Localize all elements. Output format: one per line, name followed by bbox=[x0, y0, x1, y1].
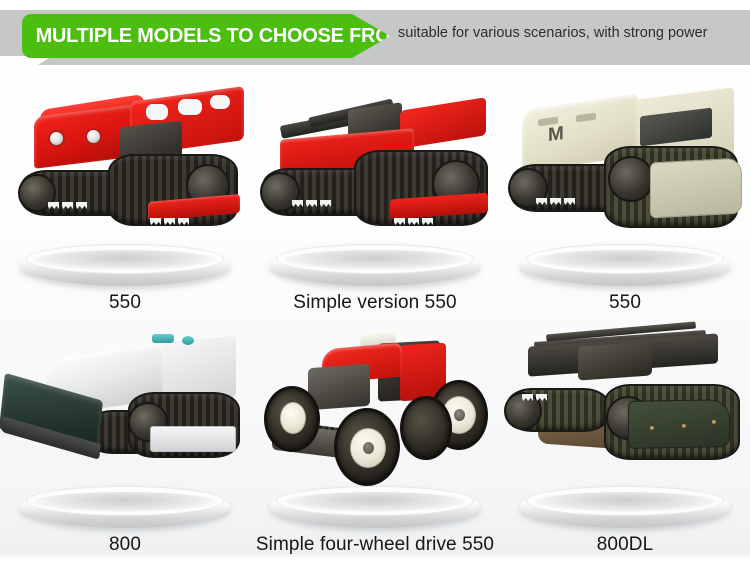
p1-blade bbox=[150, 218, 161, 225]
p1-blade bbox=[76, 202, 87, 209]
p6-bolt bbox=[712, 420, 716, 424]
p1-headlamp-right bbox=[85, 128, 102, 145]
p6-bolt bbox=[682, 424, 686, 428]
turntable-contact-shadow bbox=[284, 250, 466, 270]
turntable-5 bbox=[270, 486, 480, 532]
turntable-contact-shadow bbox=[34, 492, 216, 512]
product-caption-6: 800DL bbox=[500, 534, 750, 558]
product-card-3[interactable]: M bbox=[500, 72, 750, 292]
p2-blade-set-left bbox=[292, 200, 331, 207]
product-caption-3: 550 bbox=[500, 292, 750, 314]
product-caption-5: Simple four-wheel drive 550 bbox=[250, 534, 500, 558]
product-caption-1: 550 bbox=[0, 292, 250, 314]
p3-sprocket-right bbox=[608, 156, 654, 202]
p5-rim-rear-left bbox=[280, 402, 306, 434]
p2-blade bbox=[394, 218, 405, 225]
turntable-contact-shadow bbox=[34, 250, 216, 270]
p2-blade-set-right bbox=[394, 218, 433, 225]
p3-brand-logo: M bbox=[548, 123, 564, 147]
p2-blade bbox=[292, 200, 303, 207]
p4-knob-teal-2 bbox=[182, 336, 194, 345]
p6-blade bbox=[522, 394, 533, 401]
product-card-5[interactable] bbox=[250, 314, 500, 534]
product-caption-4: 800 bbox=[0, 534, 250, 558]
product-card-6[interactable] bbox=[500, 314, 750, 534]
turntable-3 bbox=[520, 244, 730, 290]
turntable-2 bbox=[270, 244, 480, 290]
product-grid: M 550 Simple version 550 bbox=[0, 72, 750, 558]
p5-hub-front-left bbox=[363, 442, 374, 454]
p2-blade bbox=[320, 200, 331, 207]
p1-frame-cutout-c bbox=[210, 95, 230, 109]
product-card-4[interactable] bbox=[0, 314, 250, 534]
p6-engine-block bbox=[578, 341, 652, 380]
product-caption-2: Simple version 550 bbox=[250, 292, 500, 314]
turntable-contact-shadow bbox=[284, 492, 466, 512]
p6-blade bbox=[536, 394, 547, 401]
turntable-contact-shadow bbox=[534, 250, 716, 270]
header-subtitle: suitable for various scenarios, with str… bbox=[398, 10, 707, 56]
p1-blade-set-front bbox=[48, 202, 87, 209]
p3-blade-set bbox=[536, 198, 575, 205]
p6-blade-set bbox=[522, 394, 547, 401]
header-banner: MULTIPLE MODELS TO CHOOSE FROM suitable … bbox=[0, 0, 750, 72]
p1-frame-cutout-a bbox=[146, 104, 168, 120]
caption-row-1: 550 Simple version 550 550 bbox=[0, 292, 750, 314]
p2-blade bbox=[306, 200, 317, 207]
p2-blade bbox=[408, 218, 419, 225]
product-card-1[interactable] bbox=[0, 72, 250, 292]
p1-blade bbox=[178, 218, 189, 225]
turntable-4 bbox=[20, 486, 230, 532]
turntable-1 bbox=[20, 244, 230, 290]
caption-row-2: 800 Simple four-wheel drive 550 800DL bbox=[0, 534, 750, 558]
p1-blade bbox=[62, 202, 73, 209]
p3-blade bbox=[550, 198, 561, 205]
turntable-6 bbox=[520, 486, 730, 532]
p6-olive-side-panel bbox=[628, 399, 730, 449]
p2-blade bbox=[422, 218, 433, 225]
p3-side-panel bbox=[650, 158, 742, 219]
p1-blade bbox=[48, 202, 59, 209]
product-card-2[interactable] bbox=[250, 72, 500, 292]
header-badge-label: MULTIPLE MODELS TO CHOOSE FROM bbox=[22, 24, 407, 48]
p1-blade-set-right bbox=[150, 218, 189, 225]
p4-white-undertrack bbox=[150, 426, 236, 452]
p1-blade bbox=[164, 218, 175, 225]
p4-knob-teal bbox=[152, 334, 174, 343]
turntable-contact-shadow bbox=[534, 492, 716, 512]
p5-wheel-front-right bbox=[400, 396, 452, 460]
product-catalog-page: MULTIPLE MODELS TO CHOOSE FROM suitable … bbox=[0, 0, 750, 576]
p1-headlamp-left bbox=[48, 130, 65, 147]
p3-blade bbox=[564, 198, 575, 205]
p5-hub-rear-right bbox=[454, 409, 465, 421]
p5-grey-engine bbox=[308, 364, 370, 410]
p1-frame-cutout-b bbox=[178, 99, 202, 115]
p6-bolt bbox=[650, 426, 654, 430]
header-green-badge: MULTIPLE MODELS TO CHOOSE FROM bbox=[22, 14, 390, 58]
p3-blade bbox=[536, 198, 547, 205]
